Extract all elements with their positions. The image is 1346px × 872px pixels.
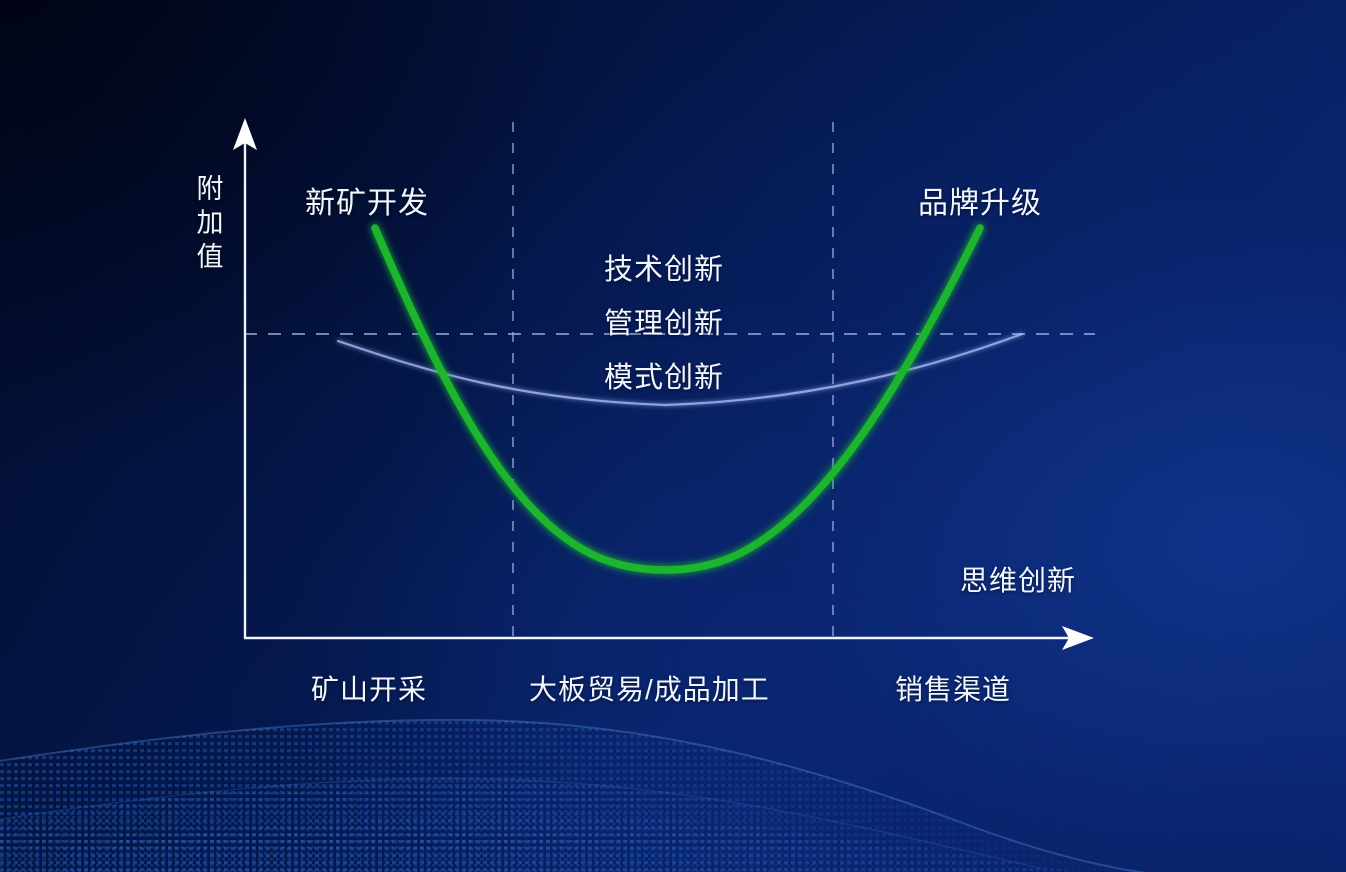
x-axis-label-stage-1: 矿山开采 [311, 668, 427, 708]
y-axis-label-char-1: 附 [190, 172, 230, 206]
curve-start-label: 新矿开发 [305, 178, 429, 222]
y-axis-label: 附 加 值 [190, 172, 230, 274]
innovation-label-management: 管理创新 [604, 300, 724, 342]
curve-end-label: 品牌升级 [918, 178, 1042, 222]
x-axis-label-stage-3: 销售渠道 [895, 668, 1011, 708]
x-axis-label-stage-2: 大板贸易/成品加工 [529, 668, 770, 708]
slide-canvas: 附 加 值 新矿开发 品牌升级 技术创新 管理创新 模式创新 思维创新 矿山开采… [0, 0, 1346, 872]
innovation-label-thinking: 思维创新 [960, 559, 1076, 599]
y-axis-label-char-2: 加 [190, 206, 230, 240]
innovation-label-model: 模式创新 [604, 354, 724, 396]
innovation-label-tech: 技术创新 [604, 246, 724, 288]
y-axis-label-char-3: 值 [190, 240, 230, 274]
smile-curve-chart [0, 0, 1346, 872]
